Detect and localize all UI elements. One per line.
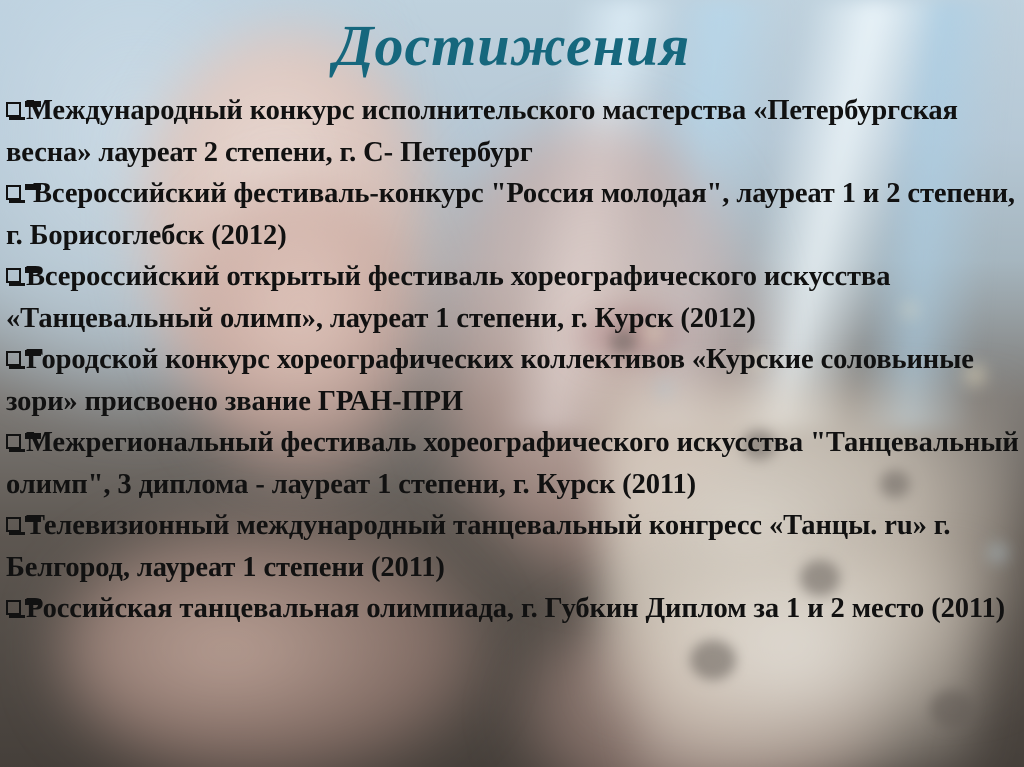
list-item: Всероссийский фестиваль-конкурс "Россия … — [6, 173, 1020, 256]
square-bullet-icon — [6, 102, 25, 121]
list-item-text: Международный конкурс исполнительского м… — [6, 95, 965, 168]
presentation-slide: Достижения Международный конкурс исполни… — [0, 0, 1024, 767]
list-item-text: Всероссийский фестиваль-конкурс "Россия … — [6, 178, 1022, 251]
list-item-text: Межрегиональный фестиваль хореографическ… — [6, 427, 1024, 500]
list-item-text: Телевизионный международный танцевальный… — [6, 510, 957, 583]
square-bullet-icon — [6, 434, 25, 453]
square-bullet-icon — [6, 185, 25, 204]
list-item: Телевизионный международный танцевальный… — [6, 505, 1020, 588]
list-item: Межрегиональный фестиваль хореографическ… — [6, 422, 1020, 505]
list-item: Всероссийский открытый фестиваль хореогр… — [6, 256, 1020, 339]
list-item-text: Всероссийский открытый фестиваль хореогр… — [6, 261, 897, 334]
list-item: Российская танцевальная олимпиада, г. Гу… — [6, 588, 1020, 630]
page-title: Достижения — [0, 10, 1024, 82]
square-bullet-icon — [6, 600, 25, 619]
square-bullet-icon — [6, 351, 25, 370]
list-item-text: Городской конкурс хореографических колле… — [6, 344, 981, 417]
list-item: Городской конкурс хореографических колле… — [6, 339, 1020, 422]
list-item: Международный конкурс исполнительского м… — [6, 90, 1020, 173]
square-bullet-icon — [6, 517, 25, 536]
square-bullet-icon — [6, 268, 25, 287]
achievements-list: Международный конкурс исполнительского м… — [6, 90, 1020, 630]
list-item-text: Российская танцевальная олимпиада, г. Гу… — [26, 593, 1005, 624]
